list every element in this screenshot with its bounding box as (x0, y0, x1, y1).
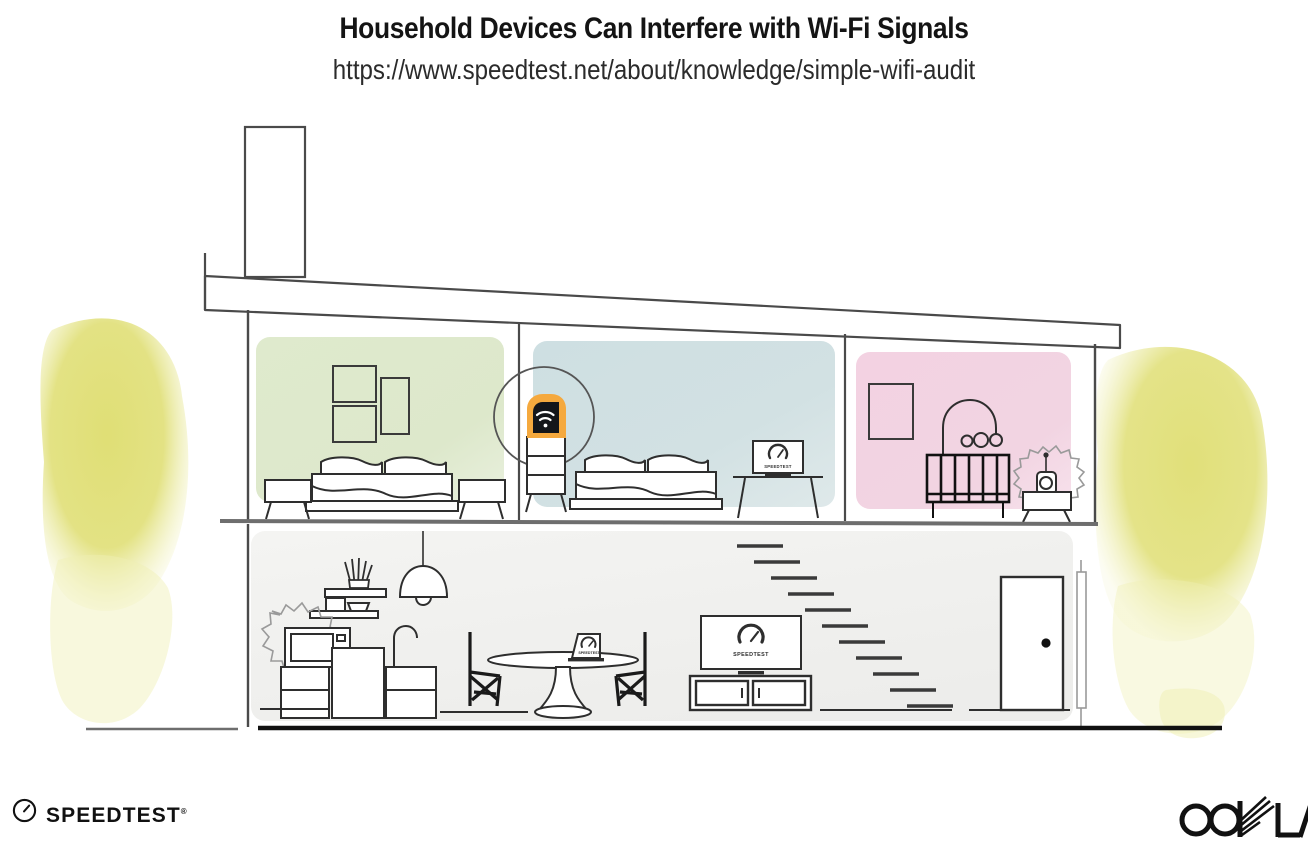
trademark-mark: ® (181, 807, 187, 816)
media-console (690, 676, 811, 710)
nightstand-left (265, 480, 311, 519)
laptop-screen-label: SPEEDTEST (578, 651, 600, 655)
window-panel (1077, 572, 1086, 708)
television: SPEEDTEST (701, 616, 801, 674)
ookla-mark (1182, 797, 1308, 837)
chimney (245, 127, 305, 277)
nursery-pink (856, 352, 1084, 522)
laptop-screen-label: SPEEDTEST (764, 464, 792, 469)
wifi-router (527, 394, 566, 438)
speedtest-gauge-icon (12, 798, 37, 828)
bed (306, 457, 458, 511)
laptop-bedroom: SPEEDTEST (753, 441, 803, 477)
nightstand (1023, 492, 1071, 522)
bedroom-green (256, 337, 505, 519)
tv-screen-label: SPEEDTEST (733, 652, 769, 658)
shelf-upper (325, 589, 386, 597)
house-illustration: SPEEDTEST (0, 0, 1308, 861)
speedtest-logo: SPEEDTEST® (12, 798, 187, 828)
floor-slab (220, 521, 1098, 524)
speedtest-wordmark: SPEEDTEST® (46, 801, 187, 826)
ookla-logo (1174, 795, 1308, 846)
bedroom-blue: SPEEDTEST (533, 341, 835, 518)
tree-right (1096, 347, 1268, 738)
door-knob[interactable] (1041, 638, 1050, 647)
bed (570, 455, 722, 509)
roof (205, 253, 1120, 348)
front-door[interactable] (1001, 577, 1063, 710)
tree-left (40, 318, 188, 723)
speedtest-label: SPEEDTEST (46, 804, 181, 827)
nightstand-right (459, 480, 505, 519)
